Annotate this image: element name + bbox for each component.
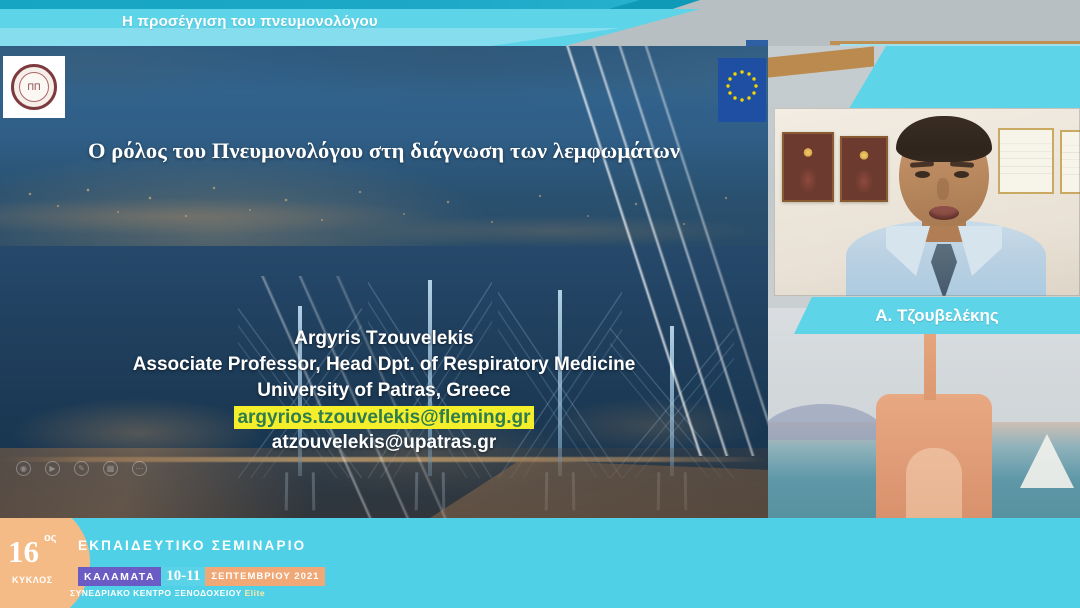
webcam-panel[interactable]: Α. Τζουβελέκης bbox=[768, 46, 1080, 518]
slides-icon[interactable]: ▦ bbox=[103, 461, 118, 476]
event-venue: ΣΥΝΕΔΡΙΑΚΟ ΚΕΝΤΡΟ ΞΕΝΟΔΟΧΕΙΟΥ Elite bbox=[70, 588, 265, 598]
event-date-bar: ΚΑΛΑΜΑΤΑ 10-11 ΣΕΠΤΕΜΒΡΙΟΥ 2021 bbox=[78, 567, 325, 586]
religious-icon-frame-2 bbox=[840, 136, 888, 202]
venue-text: ΣΥΝΕΔΡΙΑΚΟ ΚΕΝΤΡΟ ΞΕΝΟΔΟΧΕΙΟΥ bbox=[70, 588, 245, 598]
cycle-number: 16 bbox=[8, 536, 39, 567]
backdrop-watercolor-art bbox=[768, 308, 1080, 518]
event-month-year: ΣΕΠΤΕΜΒΡΙΟΥ 2021 bbox=[205, 567, 325, 586]
certificate-paper-2 bbox=[1062, 132, 1080, 192]
webcam-video-feed[interactable] bbox=[774, 108, 1080, 296]
event-city: ΚΑΛΑΜΑΤΑ bbox=[78, 567, 161, 586]
participant-name-tag: Α. Τζουβελέκης bbox=[794, 297, 1080, 334]
session-title: Η προσέγγιση του πνευμονολόγου bbox=[122, 13, 378, 30]
university-seal-logo: ΠΠ bbox=[3, 56, 65, 118]
watercolor-hill bbox=[768, 404, 888, 440]
cycle-ordinal: ος bbox=[44, 532, 56, 544]
speaker-affiliation-2: University of Patras, Greece bbox=[0, 378, 768, 404]
cycle-label: ΚΥΚΛΟΣ bbox=[12, 575, 53, 585]
more-icon[interactable]: ⋯ bbox=[132, 461, 147, 476]
slide-title: Ο ρόλος του Πνευμονολόγου στη διάγνωση τ… bbox=[0, 138, 768, 164]
venue-brand: Elite bbox=[245, 588, 265, 598]
participant-nose bbox=[937, 178, 949, 200]
speaker-email-secondary: atzouvelekis@upatras.gr bbox=[0, 429, 768, 457]
watercolor-tower-arch bbox=[906, 448, 962, 518]
presenter-controls[interactable]: ◉ ▶ ✎ ▦ ⋯ bbox=[16, 461, 147, 476]
certificate-frame-2 bbox=[1060, 130, 1080, 194]
seal-inner-emblem: ΠΠ bbox=[19, 72, 49, 102]
presentation-slide[interactable]: ΠΠ bbox=[0, 46, 768, 518]
slide-speaker-block: Argyris Tzouvelekis Associate Professor,… bbox=[0, 326, 768, 457]
certificate-frame-1 bbox=[998, 128, 1054, 194]
webinar-stage: Η προσέγγιση του πνευμονολόγου bbox=[0, 0, 1080, 608]
play-icon[interactable]: ▶ bbox=[45, 461, 60, 476]
religious-icon-art-2 bbox=[842, 138, 886, 200]
religious-icon-frame-1 bbox=[782, 132, 834, 202]
pen-icon[interactable]: ✎ bbox=[74, 461, 89, 476]
seminar-heading: ΕΚΠΑΙΔΕΥΤΙΚΟ ΣΕΜΙΝΑΡΙΟ bbox=[78, 538, 306, 553]
certificate-paper-1 bbox=[1000, 130, 1052, 192]
speaker-affiliation-1: Associate Professor, Head Dpt. of Respir… bbox=[0, 352, 768, 378]
participant-eye-left bbox=[915, 171, 930, 178]
religious-icon-art-1 bbox=[784, 134, 832, 200]
eu-flag-icon bbox=[718, 58, 766, 122]
participant-mouth bbox=[929, 206, 959, 220]
speaker-name: Argyris Tzouvelekis bbox=[0, 326, 768, 352]
pointer-icon[interactable]: ◉ bbox=[16, 461, 31, 476]
event-days: 10-11 bbox=[161, 567, 205, 586]
participant-name-label: Α. Τζουβελέκης bbox=[875, 306, 999, 326]
seal-outer-ring: ΠΠ bbox=[11, 64, 57, 110]
participant-eye-right bbox=[954, 171, 969, 178]
speaker-email-primary: argyrios.tzouvelekis@fleming.gr bbox=[234, 406, 533, 429]
